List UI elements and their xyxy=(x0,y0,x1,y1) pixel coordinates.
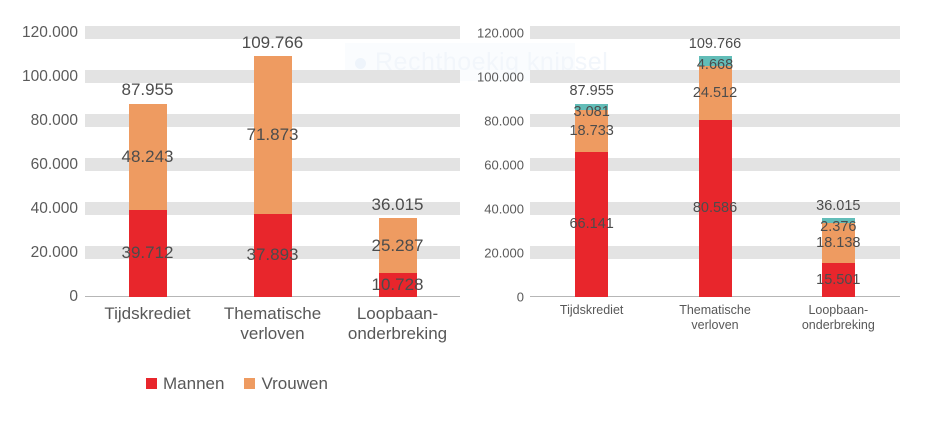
legend-item[interactable]: Mannen xyxy=(146,374,224,394)
y-tick-label: 80.000 xyxy=(484,114,524,129)
bar-value-label: 37.893 xyxy=(247,245,299,265)
plot-area-gender: 39.71248.24387.95537.89371.873109.76610.… xyxy=(85,33,460,297)
bar-value-label: 2.376 xyxy=(820,219,856,235)
y-tick-label: 120.000 xyxy=(477,26,524,41)
y-tick-label: 120.000 xyxy=(22,24,78,42)
y-tick-label: 40.000 xyxy=(31,200,78,218)
legend-item[interactable]: Vrouwen xyxy=(244,374,327,394)
bar-total-label: 36.015 xyxy=(372,195,424,215)
chart-panel-gender: 020.00040.00060.00080.000100.000120.000 … xyxy=(0,0,470,447)
bar-value-label: 4.668 xyxy=(697,57,733,73)
y-tick-label: 100.000 xyxy=(22,68,78,86)
bar-stack[interactable] xyxy=(822,33,855,297)
bar-value-label: 48.243 xyxy=(122,147,174,167)
bar-total-label: 109.766 xyxy=(689,36,741,52)
bar-value-label: 18.138 xyxy=(816,235,860,251)
y-tick-label: 20.000 xyxy=(31,244,78,262)
bar-value-label: 25.287 xyxy=(372,236,424,256)
y-tick-label: 20.000 xyxy=(484,246,524,261)
legend-swatch-icon xyxy=(244,378,255,389)
y-tick-label: 0 xyxy=(69,288,78,306)
chart-panel-region: 020.00040.00060.00080.000100.000120.000 … xyxy=(470,0,945,447)
legend-swatch-icon xyxy=(146,378,157,389)
bar-stack[interactable] xyxy=(379,33,417,297)
x-axis-category-label: Tijdskrediet xyxy=(560,303,623,318)
bar-value-label: 10.728 xyxy=(372,275,424,295)
bar-total-label: 87.955 xyxy=(122,80,174,100)
bar-value-label: 71.873 xyxy=(247,125,299,145)
dual-stacked-bar-figure: Rechthoekig knipsel 020.00040.00060.0008… xyxy=(0,0,945,447)
bar-total-label: 36.015 xyxy=(816,198,860,214)
legend-label: Mannen xyxy=(163,374,224,394)
bar-value-label: 66.141 xyxy=(569,216,613,232)
y-tick-label: 60.000 xyxy=(31,156,78,174)
legend-gender: MannenVrouwen xyxy=(146,374,328,394)
bar-value-label: 39.712 xyxy=(122,243,174,263)
y-tick-label: 60.000 xyxy=(484,158,524,173)
bar-stack[interactable] xyxy=(699,33,732,297)
legend-label: Vrouwen xyxy=(261,374,327,394)
x-axis-category-label: Loopbaan- onderbreking xyxy=(348,304,447,344)
bar-value-label: 24.512 xyxy=(693,85,737,101)
bar-value-label: 3.081 xyxy=(574,104,610,120)
y-tick-label: 40.000 xyxy=(484,202,524,217)
bar-stack[interactable] xyxy=(575,33,608,297)
x-axis-category-label: Tijdskrediet xyxy=(104,304,190,324)
y-tick-label: 100.000 xyxy=(477,70,524,85)
y-tick-label: 80.000 xyxy=(31,112,78,130)
bar-total-label: 109.766 xyxy=(242,33,303,53)
bar-value-label: 15.501 xyxy=(816,272,860,288)
x-axis-category-label: Loopbaan- onderbreking xyxy=(802,303,875,333)
y-axis-ticks-gender: 020.00040.00060.00080.000100.000120.000 xyxy=(0,33,78,297)
plot-area-region: 66.14118.7333.08187.95580.58624.5124.668… xyxy=(530,33,900,297)
bar-total-label: 87.955 xyxy=(569,83,613,99)
x-axis-category-label: Thematische verloven xyxy=(224,304,321,344)
y-tick-label: 0 xyxy=(517,290,524,305)
bar-value-label: 80.586 xyxy=(693,200,737,216)
x-axis-category-label: Thematische verloven xyxy=(679,303,751,333)
y-axis-ticks-region: 020.00040.00060.00080.000100.000120.000 xyxy=(470,33,524,297)
bar-value-label: 18.733 xyxy=(569,123,613,139)
